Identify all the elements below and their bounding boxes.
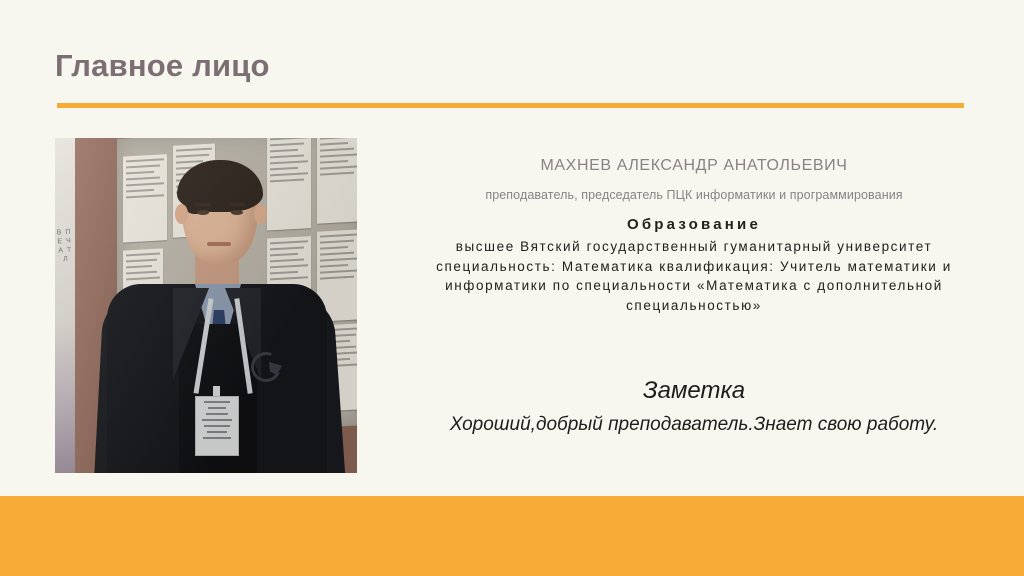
eyebrow-right: [229, 203, 245, 206]
note-block: Заметка Хороший,добрый преподаватель.Зна…: [400, 376, 988, 438]
portrait-photo: В П Е Ч А Т Л: [55, 138, 357, 473]
eye-left: [197, 210, 209, 215]
ear-left: [175, 204, 188, 224]
ear-right: [254, 204, 267, 224]
person-role: преподаватель, председатель ПЦК информат…: [400, 186, 988, 204]
education-heading: Образование: [400, 215, 988, 235]
hair: [177, 160, 263, 212]
eye-right: [231, 210, 243, 215]
eyebrow-left: [195, 203, 211, 206]
person-name: МАХНЕВ АЛЕКСАНДР АНАТОЛЬЕВИЧ: [400, 155, 988, 177]
photo-inner: В П Е Ч А Т Л: [55, 138, 357, 473]
education-details: высшее Вятский государственный гуманитар…: [400, 237, 988, 315]
note-heading: Заметка: [400, 376, 988, 406]
mouth: [207, 242, 231, 246]
page-title: Главное лицо: [55, 48, 270, 84]
id-badge: [195, 396, 239, 456]
title-underline-rule: [57, 103, 964, 108]
person-figure: [55, 138, 357, 473]
bottom-accent-bar: [0, 496, 1024, 576]
slide: Главное лицо В П Е Ч А Т Л: [0, 0, 1024, 576]
note-text: Хороший,добрый преподаватель.Знает свою …: [400, 412, 988, 438]
person-info-block: МАХНЕВ АЛЕКСАНДР АНАТОЛЬЕВИЧ преподавате…: [400, 155, 988, 315]
